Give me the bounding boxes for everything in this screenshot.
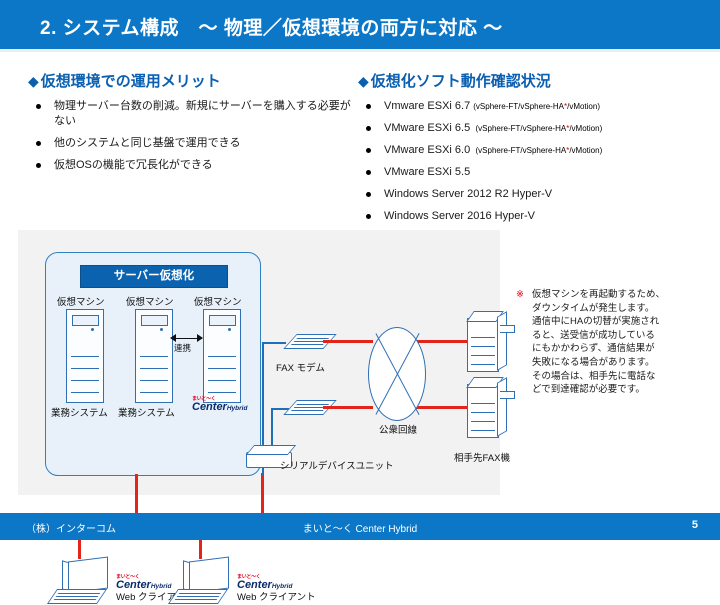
- public-line-label: 公衆回線: [379, 422, 417, 436]
- supported-software-column: ◆仮想化ソフト動作確認状況 Vmware ESXi 6.7 (vSphere-F…: [358, 70, 718, 231]
- footer-product: まいと〜く Center Hybrid: [0, 520, 720, 535]
- list-item: 物理サーバー台数の削減。新規にサーバーを購入する必要がない: [28, 99, 358, 129]
- link-label: 連携: [174, 342, 191, 354]
- serial-cable: [262, 342, 286, 344]
- server-virtualization-title: サーバー仮想化: [80, 265, 228, 288]
- client-logo: まいと〜く CenterHybrid Web クライアント: [237, 575, 316, 604]
- caution-note-line: 通信中にHAの切替が実施され: [532, 315, 712, 329]
- serial-device-unit-top: [246, 445, 296, 455]
- software-name: Vmware ESXi 6.7: [384, 100, 470, 112]
- software-note: (vSphere-FT/vSphere-HA*/vMotion): [473, 146, 602, 155]
- software-note: (vSphere-FT/vSphere-HA*/vMotion): [473, 124, 602, 133]
- logo-suffix: Hybrid: [272, 583, 293, 590]
- diamond-icon: ◆: [358, 73, 369, 89]
- supported-software-heading: ◆仮想化ソフト動作確認状況: [358, 70, 718, 91]
- caution-note-line: その場合は、相手先に電話な: [532, 370, 712, 384]
- phone-line: [323, 340, 373, 343]
- logo-suffix: Hybrid: [227, 405, 248, 412]
- page-title: 2. システム構成 〜 物理／仮想環境の両方に対応 〜: [40, 13, 503, 40]
- vm-label: 仮想マシン: [194, 294, 242, 308]
- logo-brand: CenterHybrid: [192, 402, 247, 414]
- system-label: 業務システム: [118, 405, 175, 419]
- fax-machine-icon: [467, 384, 499, 438]
- list-item: Windows Server 2012 R2 Hyper-V: [358, 187, 718, 202]
- merits-heading-label: 仮想環境での運用メリット: [41, 73, 221, 90]
- merits-heading: ◆仮想環境での運用メリット: [28, 70, 358, 91]
- remote-fax-label: 相手先FAX機: [454, 450, 510, 464]
- serial-device-label: シリアルデバイスユニット: [280, 458, 394, 472]
- logo-suffix: Hybrid: [151, 583, 172, 590]
- software-name: VMware ESXi 6.0: [384, 144, 470, 156]
- server-tower-icon: [203, 309, 241, 403]
- page-number: 5: [692, 519, 698, 531]
- phone-line: [416, 406, 471, 409]
- vm-label: 仮想マシン: [126, 294, 174, 308]
- supported-software-list: Vmware ESXi 6.7 (vSphere-FT/vSphere-HA*/…: [358, 99, 718, 224]
- vm-label: 仮想マシン: [57, 294, 105, 308]
- software-note: (vSphere-FT/vSphere-HA*/vMotion): [473, 102, 600, 111]
- arrow-right-icon: [197, 334, 203, 342]
- system-diagram: サーバー仮想化 仮想マシン 仮想マシン 仮想マシン 連携 業務システム: [18, 230, 500, 495]
- caution-note-line: どで到達確認が必要です。: [532, 383, 712, 397]
- list-item: 仮想OSの機能で冗長化ができる: [28, 158, 358, 173]
- caution-note-line: ダウンタイムが発生します。: [532, 302, 712, 316]
- diamond-icon: ◆: [28, 73, 39, 89]
- software-name: VMware ESXi 6.5: [384, 122, 470, 134]
- public-line-cloud-icon: [368, 327, 426, 421]
- list-item: Vmware ESXi 6.7 (vSphere-FT/vSphere-HA*/…: [358, 99, 718, 114]
- header-divider: [0, 49, 720, 52]
- system-label: 業務システム: [51, 405, 108, 419]
- phone-line: [323, 406, 373, 409]
- reference-mark-icon: ※: [516, 288, 524, 302]
- caution-note-line: にもかかわらず、通信結果が: [532, 342, 712, 356]
- merits-column: ◆仮想環境での運用メリット 物理サーバー台数の削減。新規にサーバーを購入する必要…: [28, 70, 358, 180]
- merits-list: 物理サーバー台数の削減。新規にサーバーを購入する必要がない 他のシステムと同じ基…: [28, 99, 358, 173]
- slide: 2. システム構成 〜 物理／仮想環境の両方に対応 〜 ◆仮想環境での運用メリッ…: [0, 0, 720, 540]
- slide-header: 2. システム構成 〜 物理／仮想環境の両方に対応 〜: [0, 0, 720, 49]
- client-role-label: Web クライアント: [237, 592, 316, 604]
- center-hybrid-logo: まいと〜く CenterHybrid: [192, 397, 247, 414]
- software-name: Windows Server 2012 R2 Hyper-V: [384, 188, 552, 200]
- server-virtualization-box: サーバー仮想化 仮想マシン 仮想マシン 仮想マシン 連携 業務システム: [45, 252, 261, 476]
- server-tower-icon: [135, 309, 173, 403]
- list-item: VMware ESXi 6.0 (vSphere-FT/vSphere-HA*/…: [358, 143, 718, 158]
- supported-software-heading-label: 仮想化ソフト動作確認状況: [371, 73, 551, 90]
- caution-note-line: 失敗になる場合があります。: [532, 356, 712, 370]
- software-name: Windows Server 2016 Hyper-V: [384, 210, 535, 222]
- list-item: VMware ESXi 6.5 (vSphere-FT/vSphere-HA*/…: [358, 121, 718, 136]
- list-item: Windows Server 2016 Hyper-V: [358, 209, 718, 224]
- slide-footer: （株）インターコム まいと〜く Center Hybrid 5: [0, 513, 720, 540]
- web-client-pc-icon: [50, 559, 112, 605]
- caution-note-line: 仮想マシンを再起動するため、: [532, 288, 712, 302]
- list-item: VMware ESXi 5.5: [358, 165, 718, 180]
- server-tower-icon: [66, 309, 104, 403]
- list-item: 他のシステムと同じ基盤で運用できる: [28, 136, 358, 151]
- phone-line: [416, 340, 471, 343]
- caution-note: ※ 仮想マシンを再起動するため、 ダウンタイムが発生します。 通信中にHAの切替…: [516, 288, 712, 397]
- fax-machine-icon: [467, 318, 499, 372]
- web-client-pc-icon: [171, 559, 233, 605]
- software-name: VMware ESXi 5.5: [384, 166, 470, 178]
- caution-note-line: ると、送受信が成功している: [532, 329, 712, 343]
- logo-brand: CenterHybrid: [237, 580, 316, 592]
- arrow-left-icon: [170, 334, 176, 342]
- fax-modem-label: FAX モデム: [276, 360, 325, 374]
